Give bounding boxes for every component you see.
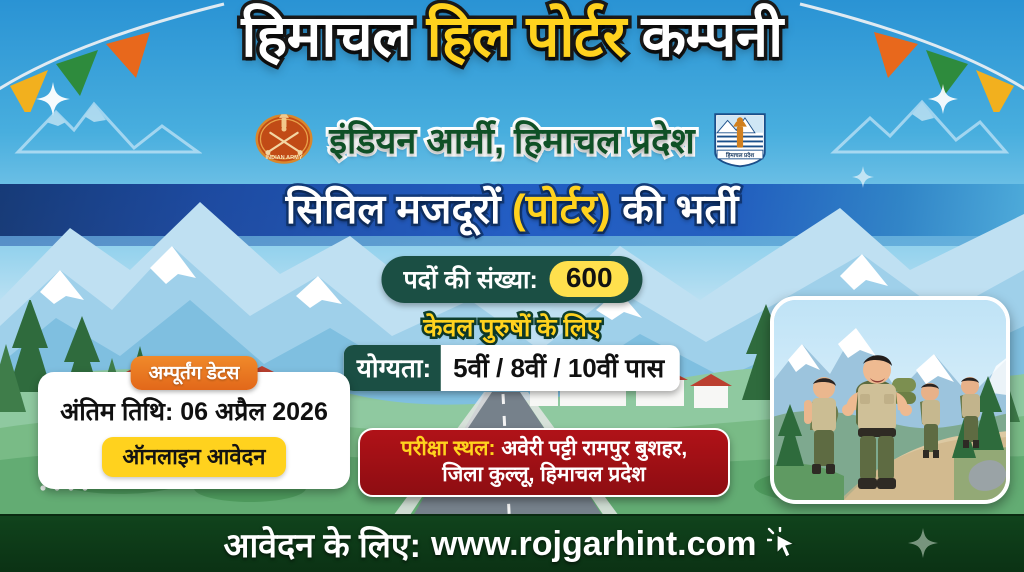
qualification-value: 5वीं / 8वीं / 10वीं पास <box>441 345 680 391</box>
indian-army-emblem-icon: INDIAN ARMY <box>253 108 315 170</box>
organization-row: INDIAN ARMY इंडियन आर्मी, हिमाचल प्रदेश … <box>0 108 1024 170</box>
important-dates-card: अम्पूर्तंग डेटस अंतिम तिथि: 06 अप्रैल 20… <box>38 372 350 489</box>
venue-line-1: अवेरी पट्टी रामपुर बुशहर, <box>501 437 687 460</box>
posts-label: पदों की संख्या: <box>403 262 537 296</box>
apply-mode-badge: ऑनलाइन आवेदन <box>102 437 285 477</box>
role-part-1: सिविल मजदूरों <box>286 186 512 232</box>
important-dates-heading: अम्पूर्तंग डेटस <box>131 356 258 390</box>
title-part-2: कम्पनी <box>626 4 783 69</box>
title-part-1: हिमाचल <box>241 4 426 69</box>
footer-bar: आवेदन के लिए: www.rojgarhint.com <box>0 514 1024 572</box>
porters-illustration <box>770 296 1010 504</box>
gender-note: केवल पुरुषों के लिए <box>423 310 600 344</box>
last-date-text: अंतिम तिथि: 06 अप्रैल 2026 <box>50 394 338 428</box>
venue-label: परीक्षा स्थल: <box>401 437 496 460</box>
role-part-2: की भर्ती <box>611 186 739 232</box>
recruitment-poster: हिमाचल हिल पोर्टर कम्पनी INDIAN ARMY इंड… <box>0 0 1024 572</box>
posts-count-badge: 600 <box>550 261 629 297</box>
click-cursor-icon <box>767 527 801 561</box>
himachal-pradesh-emblem-icon: हिमाचल प्रदेश <box>709 108 771 170</box>
qualification-pill: योग्यता: 5वीं / 8वीं / 10वीं पास <box>344 345 680 391</box>
posts-count-pill: पदों की संख्या: 600 <box>381 256 642 303</box>
poster-title: हिमाचल हिल पोर्टर कम्पनी <box>0 8 1024 66</box>
svg-text:INDIAN ARMY: INDIAN ARMY <box>266 155 303 161</box>
title-highlight: हिल पोर्टर <box>427 4 626 69</box>
venue-line-2: जिला कुल्लू, हिमाचल प्रदेश <box>372 462 716 488</box>
role-title: सिविल मजदूरों (पोर्टर) की भर्ती <box>0 180 1024 236</box>
exam-venue-card: परीक्षा स्थल: अवेरी पट्टी रामपुर बुशहर, … <box>358 428 730 497</box>
role-highlight: (पोर्टर) <box>512 186 611 232</box>
footer-prefix: आवेदन के लिए: <box>223 521 421 567</box>
sparkle-icon-footer <box>908 528 938 558</box>
qualification-label: योग्यता: <box>344 345 441 391</box>
organization-name: इंडियन आर्मी, हिमाचल प्रदेश <box>329 115 694 164</box>
footer-website[interactable]: www.rojgarhint.com <box>431 525 757 564</box>
